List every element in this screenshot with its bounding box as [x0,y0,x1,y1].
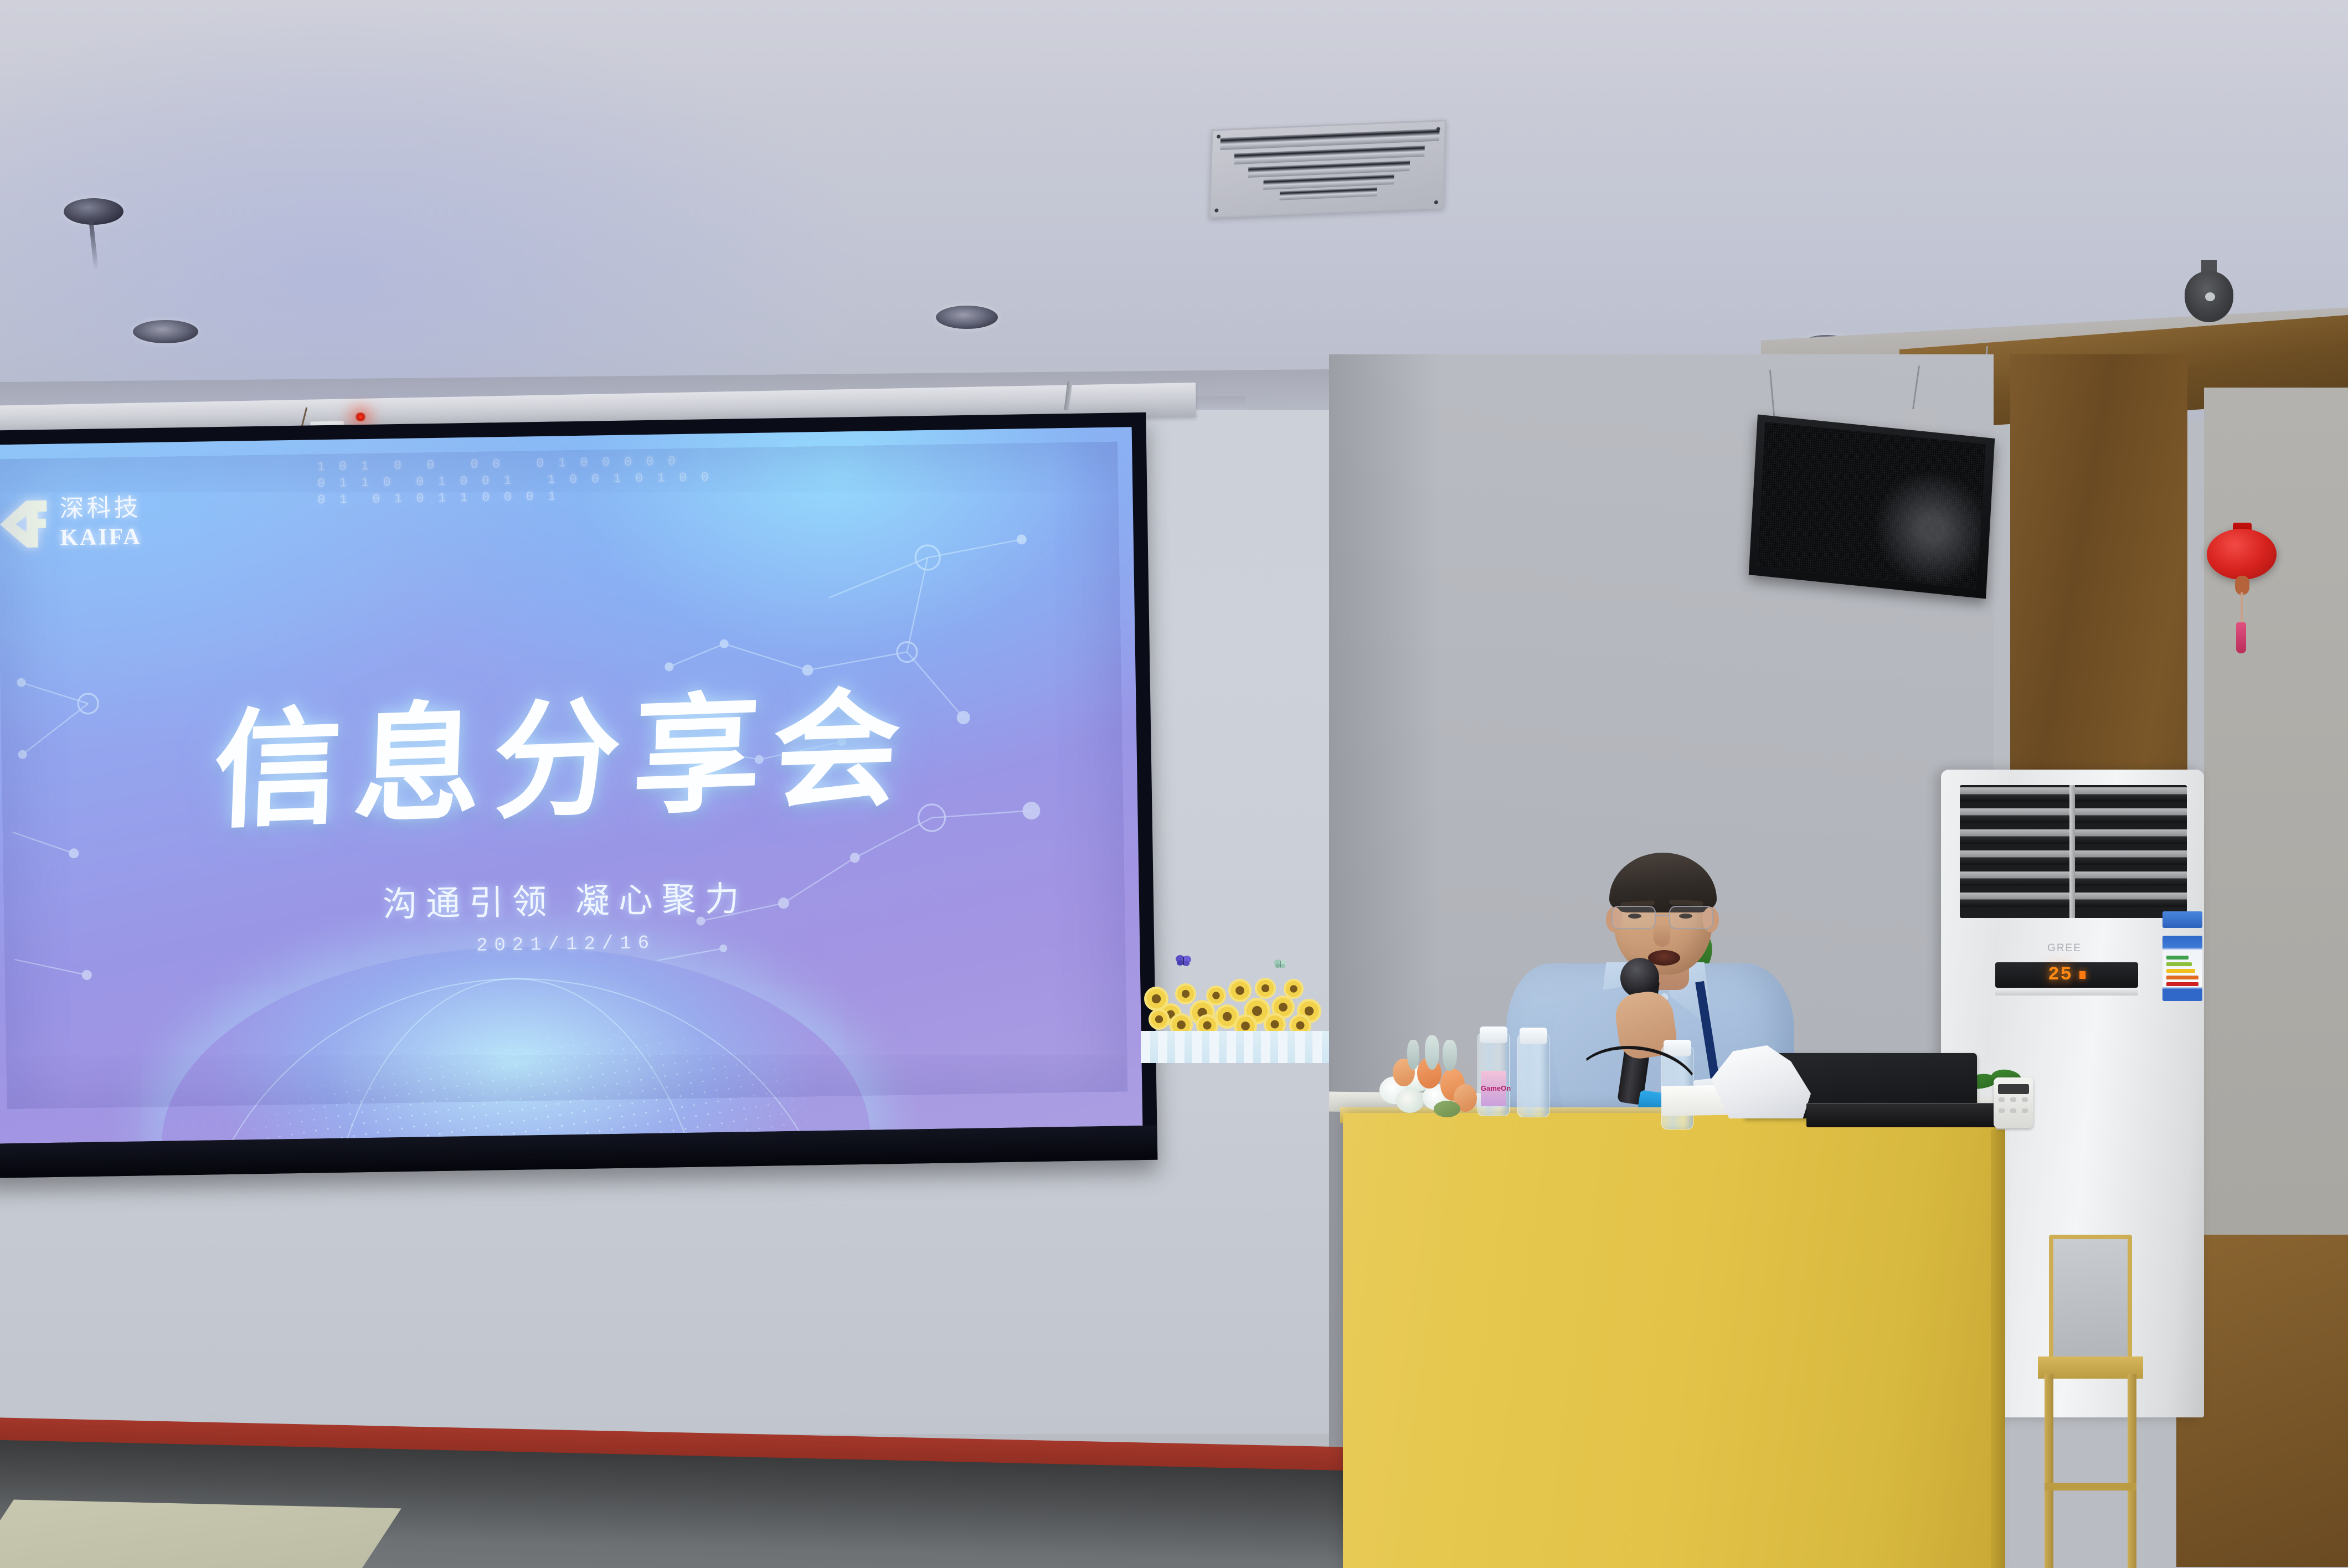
remote-display [1998,1084,2029,1094]
energy-label [2162,936,2202,1001]
ac-brand-label: GREE [2006,942,2123,955]
wall-speaker-icon [1749,414,1995,599]
ac-sticker-top [2162,911,2202,928]
ac-temperature-value: 25 [2048,964,2073,986]
podium-side-edge [1991,1129,2005,1568]
flower-arrangement [1376,1031,1481,1114]
kaifa-logo: 深科技 KAIFA [0,496,142,550]
remote-button[interactable] [2022,1097,2028,1102]
picket-fence [1141,1031,1329,1063]
logo-chinese-text: 深科技 [59,496,141,521]
ceiling-downlight-icon [936,306,998,329]
remote-button[interactable] [2010,1097,2016,1102]
glasses-lens-right [1669,906,1713,929]
person-nose [1654,924,1670,947]
kaifa-logo-mark-icon [0,498,52,549]
remote-button[interactable] [1999,1108,2005,1113]
bottle-cap [1520,1028,1547,1044]
ac-temperature-display: 25 [1995,962,2138,988]
hvac-diffuser-icon [1209,120,1446,218]
ac-indicator-led-icon [2079,971,2086,979]
floor-tile-cream [0,1500,401,1568]
lantern-knot [2235,576,2249,595]
podium[interactable] [1343,1113,1996,1568]
housing-bracket [1064,381,1072,411]
butterfly-icon [1274,959,1287,969]
remote-button[interactable] [2022,1108,2028,1113]
glasses-lens-left [1611,906,1656,929]
chair-backrest[interactable] [2049,1235,2132,1362]
remote-button[interactable] [1999,1097,2005,1102]
slide-surface: 1 0 1 0 0 0 0 0 1 0 0 0 0 0 0 1 1 0 0 1 … [0,427,1142,1143]
ceiling-downlight-icon [133,320,198,343]
ac-display-strip [1995,989,2138,996]
bottle-label: GameOn [1481,1071,1506,1106]
light-glint [2205,292,2215,301]
lantern-tassel [2236,622,2246,653]
projection-screen[interactable]: 1 0 1 0 0 0 0 0 1 0 0 0 0 0 0 1 1 0 0 1 … [0,412,1157,1178]
chair-rung [2045,1483,2136,1490]
logo-english-text: KAIFA [60,525,142,549]
conference-room-photo: 1 0 1 0 0 0 0 0 1 0 0 0 0 0 0 1 1 0 0 1 … [0,0,2348,1568]
sunflower-wall-decal [1141,936,1329,1063]
ceiling-projector-glow [0,0,1274,421]
ac-grille [1960,785,2187,918]
butterfly-icon [1175,955,1192,967]
ac-grille-divider [2069,785,2075,918]
remote-button[interactable] [2010,1108,2016,1113]
ceiling-downlight-icon [64,198,123,225]
red-lantern-icon [2207,529,2277,580]
speaker-grille [1757,422,1986,589]
lantern-cord [2241,592,2243,625]
glasses-bridge [1656,915,1670,916]
chair-leg [2045,1374,2053,1568]
water-bottle[interactable] [1517,1034,1549,1117]
bottle-cap [1480,1027,1507,1043]
ac-remote-control[interactable] [1994,1077,2033,1128]
chair-leg [2128,1374,2136,1568]
